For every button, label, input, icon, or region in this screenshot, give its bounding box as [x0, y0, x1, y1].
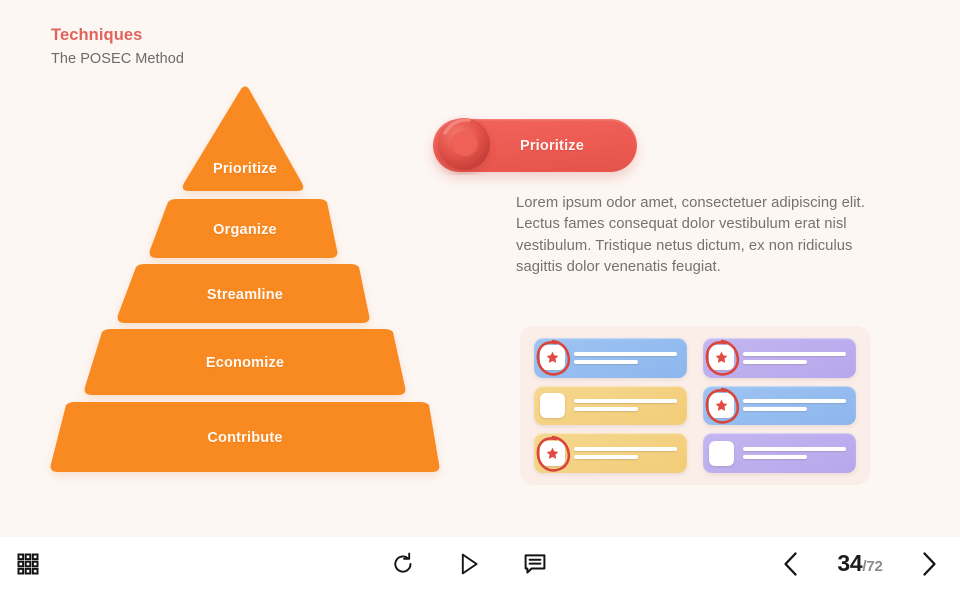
- pyramid-layer-prioritize[interactable]: Prioritize: [50, 86, 440, 194]
- torus-ring-icon: [432, 111, 496, 175]
- star-icon: [545, 446, 560, 461]
- text-line: [743, 360, 807, 364]
- checklist-row[interactable]: [534, 386, 687, 426]
- pyramid-layer-contribute[interactable]: Contribute: [50, 402, 440, 474]
- checklist-text-lines: [574, 447, 677, 459]
- text-line: [574, 360, 638, 364]
- page-title: Techniques: [51, 25, 184, 45]
- text-line: [574, 455, 638, 459]
- page-total: /72: [862, 558, 882, 575]
- text-line: [743, 352, 846, 356]
- text-line: [743, 407, 807, 411]
- checklist-text-lines: [743, 352, 846, 364]
- prioritize-badge-label: Prioritize: [520, 138, 584, 154]
- empty-checkbox-icon[interactable]: [540, 393, 565, 418]
- star-icon: [545, 350, 560, 365]
- chevron-right-icon[interactable]: [914, 549, 944, 579]
- checklist-text-lines: [743, 447, 846, 459]
- pyramid-layer-organize[interactable]: Organize: [50, 199, 440, 260]
- checkbox-checked[interactable]: [709, 393, 734, 418]
- text-line: [743, 447, 846, 451]
- empty-checkbox-icon[interactable]: [709, 441, 734, 466]
- text-line: [574, 447, 677, 451]
- checkbox-checked[interactable]: [540, 345, 565, 370]
- pyramid-layer-label: Contribute: [207, 430, 282, 446]
- slide-header: Techniques The POSEC Method: [51, 25, 184, 69]
- text-line: [574, 399, 677, 403]
- toolbar-left-group: [13, 549, 43, 579]
- checklist-row[interactable]: [703, 386, 856, 426]
- refresh-icon[interactable]: [388, 549, 418, 579]
- page-indicator[interactable]: 34 /72: [824, 550, 896, 577]
- toolbar-center-group: [388, 549, 550, 579]
- checkbox-checked[interactable]: [540, 441, 565, 466]
- bottom-toolbar: 34 /72: [0, 537, 960, 590]
- checklist-text-lines: [743, 399, 846, 411]
- checklist-text-lines: [574, 352, 677, 364]
- pyramid-layer-label: Prioritize: [213, 161, 277, 177]
- page-subtitle: The POSEC Method: [51, 49, 184, 69]
- pyramid-layer-label: Economize: [206, 355, 284, 371]
- pyramid-layer-streamline[interactable]: Streamline: [50, 264, 440, 325]
- text-line: [743, 455, 807, 459]
- checklist-row[interactable]: [534, 433, 687, 473]
- checklist-row[interactable]: [534, 338, 687, 378]
- slide-canvas: Techniques The POSEC Method Prioritize: [0, 0, 960, 537]
- comment-icon[interactable]: [520, 549, 550, 579]
- toolbar-right-group: 34 /72: [776, 549, 944, 579]
- play-icon[interactable]: [454, 549, 484, 579]
- text-line: [574, 407, 638, 411]
- checkbox-checked[interactable]: [709, 345, 734, 370]
- pyramid-layer-label: Organize: [213, 222, 277, 238]
- chevron-left-icon[interactable]: [776, 549, 806, 579]
- text-line: [743, 399, 846, 403]
- pyramid-layer-label: Streamline: [207, 287, 283, 303]
- posec-pyramid: Prioritize Organize: [50, 86, 440, 484]
- checklist-text-lines: [574, 399, 677, 411]
- grid-view-icon[interactable]: [13, 549, 43, 579]
- body-paragraph: Lorem ipsum odor amet, consectetuer adip…: [516, 193, 894, 279]
- page-current: 34: [837, 550, 862, 577]
- text-line: [574, 352, 677, 356]
- star-icon: [714, 398, 729, 413]
- star-icon: [714, 350, 729, 365]
- checklist-row[interactable]: [703, 433, 856, 473]
- pyramid-layer-economize[interactable]: Economize: [50, 329, 440, 397]
- checklist-row[interactable]: [703, 338, 856, 378]
- checklist-panel: [520, 326, 870, 485]
